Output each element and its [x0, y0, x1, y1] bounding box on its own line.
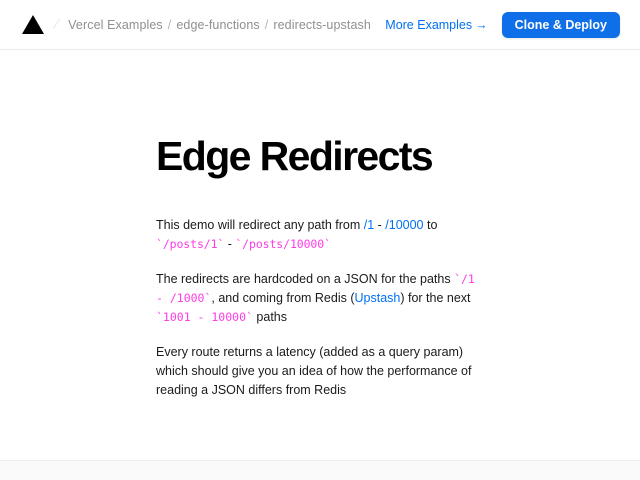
- p2-text-d: paths: [253, 310, 287, 324]
- p1-text-a: This demo will redirect any path from: [156, 218, 364, 232]
- breadcrumb-separator-2: /: [265, 18, 269, 32]
- p1-dash-2: -: [224, 237, 235, 251]
- link-upstash[interactable]: Upstash: [355, 291, 401, 305]
- p2-text-b: , and coming from Redis (: [211, 291, 354, 305]
- code-posts-1: `/posts/1`: [156, 237, 224, 251]
- breadcrumb-item-redirects-upstash[interactable]: redirects-upstash: [273, 18, 371, 32]
- article-wrapper: Edge Redirects This demo will redirect a…: [156, 135, 496, 400]
- vercel-triangle-icon[interactable]: [20, 13, 46, 37]
- breadcrumb: Vercel Examples / edge-functions / redir…: [68, 18, 371, 32]
- p2-text-c: ) for the next: [400, 291, 470, 305]
- header-actions: More Examples→ Clone & Deploy: [385, 12, 620, 38]
- paragraph-latency-note: Every route returns a latency (added as …: [156, 343, 481, 400]
- more-examples-label: More Examples: [385, 18, 472, 32]
- code-posts-10000: `/posts/10000`: [235, 237, 331, 251]
- arrow-right-icon: →: [475, 18, 488, 32]
- link-path-10000[interactable]: /10000: [385, 218, 423, 232]
- site-header: / Vercel Examples / edge-functions / red…: [0, 0, 640, 50]
- footer-strip: [0, 460, 640, 480]
- clone-and-deploy-button[interactable]: Clone & Deploy: [502, 12, 620, 38]
- p1-text-b: to: [424, 218, 438, 232]
- main-content: Edge Redirects This demo will redirect a…: [0, 50, 640, 460]
- link-path-1[interactable]: /1: [364, 218, 374, 232]
- code-range-1001-10000: `1001 - 10000`: [156, 310, 253, 324]
- p1-dash-1: -: [374, 218, 385, 232]
- paragraph-data-sources: The redirects are hardcoded on a JSON fo…: [156, 270, 481, 327]
- breadcrumb-item-edge-functions[interactable]: edge-functions: [176, 18, 259, 32]
- more-examples-link[interactable]: More Examples→: [385, 18, 487, 32]
- page-title: Edge Redirects: [156, 135, 496, 178]
- breadcrumb-item-vercel-examples[interactable]: Vercel Examples: [68, 18, 163, 32]
- p2-text-a: The redirects are hardcoded on a JSON fo…: [156, 272, 454, 286]
- breadcrumb-separator-1: /: [168, 18, 172, 32]
- paragraph-redirect-range: This demo will redirect any path from /1…: [156, 216, 481, 254]
- breadcrumb-leading-separator: /: [51, 16, 60, 33]
